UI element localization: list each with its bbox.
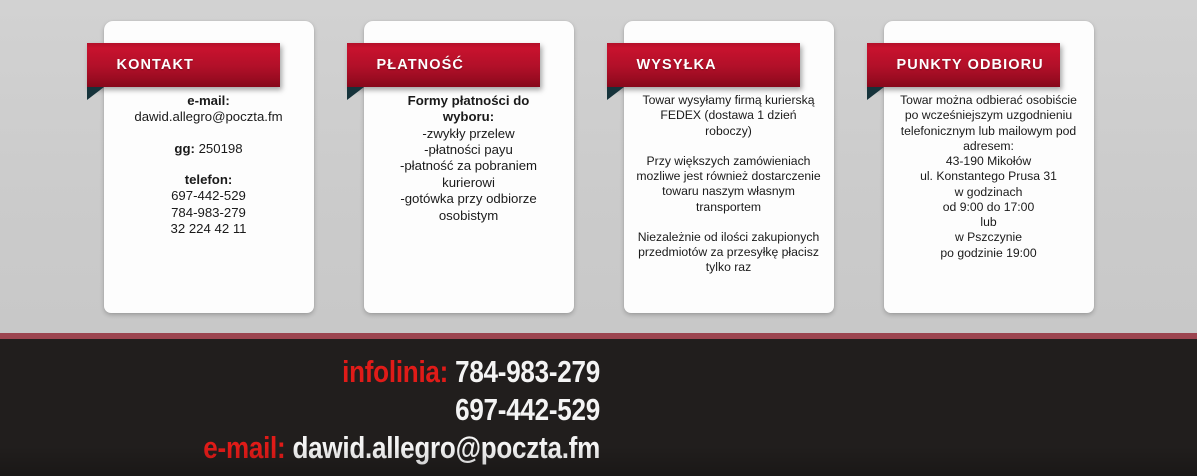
ribbon-banner: WYSYŁKA xyxy=(607,43,800,87)
ribbon-banner: KONTAKT xyxy=(87,43,280,87)
card-text-line: Towar można odbierać osobiście xyxy=(892,93,1086,108)
card-title: WYSYŁKA xyxy=(637,58,717,73)
footer-contact-line: e-mail: dawid.allegro@poczta.fm xyxy=(96,429,600,467)
card-text-line: telefonicznym lub mailowym pod xyxy=(892,124,1086,139)
card-text-line: adresem: xyxy=(892,139,1086,154)
card-text-line: FEDEX (dostawa 1 dzień xyxy=(632,108,826,123)
card-header-ribbon: WYSYŁKA xyxy=(607,43,800,87)
footer-contact-value[interactable]: 697-442-529 xyxy=(455,392,600,427)
card-text-line: -płatności payu xyxy=(372,142,566,158)
ribbon-fold-corner xyxy=(867,87,884,100)
card-text-line: towaru naszym własnym xyxy=(632,184,826,199)
card-body: Towar można odbierać osobiściepo wcześni… xyxy=(884,93,1094,261)
ribbon-banner: PUNKTY ODBIORU xyxy=(867,43,1060,87)
card-text-line: osobistym xyxy=(372,208,566,224)
card-text-line: dawid.allegro@poczta.fm xyxy=(112,109,306,125)
card-header-ribbon: PUNKTY ODBIORU xyxy=(867,43,1060,87)
card-text-line: lub xyxy=(892,215,1086,230)
card-title: PUNKTY ODBIORU xyxy=(897,58,1044,73)
main-content-area: KONTAKTe-mail:dawid.allegro@poczta.fmgg:… xyxy=(0,0,1197,333)
card-title: PŁATNOŚĆ xyxy=(377,58,464,73)
card-text-line: kurierowi xyxy=(372,175,566,191)
info-card: WYSYŁKATowar wysyłamy firmą kurierskąFED… xyxy=(624,21,834,313)
ribbon-fold-corner xyxy=(87,87,104,100)
card-text-line: transportem xyxy=(632,200,826,215)
card-text-line: w Pszczynie xyxy=(892,230,1086,245)
info-card: KONTAKTe-mail:dawid.allegro@poczta.fmgg:… xyxy=(104,21,314,313)
card-text-line: -gotówka przy odbiorze xyxy=(372,191,566,207)
card-text-line: gg: 250198 xyxy=(112,141,306,157)
card-header-ribbon: PŁATNOŚĆ xyxy=(347,43,540,87)
card-text-line: -płatność za pobraniem xyxy=(372,158,566,174)
ribbon-fold-corner xyxy=(347,87,364,100)
card-text-line: tylko raz xyxy=(632,260,826,275)
footer-contact-block: infolinia: 784-983-279 697-442-529e-mail… xyxy=(0,353,600,466)
footer-contact-value[interactable]: dawid.allegro@poczta.fm xyxy=(292,430,600,465)
footer-contact-line: infolinia: 784-983-279 xyxy=(96,353,600,391)
card-text-line: przedmiotów za przesyłkę płacisz xyxy=(632,245,826,260)
footer-contact-label: e-mail: xyxy=(203,430,285,465)
ribbon-fold-corner xyxy=(607,87,624,100)
card-text-line: mozliwe jest również dostarczenie xyxy=(632,169,826,184)
card-text-line: telefon: xyxy=(112,172,306,188)
card-text-line: -zwykły przelew xyxy=(372,126,566,142)
card-text-line: po godzinie 19:00 xyxy=(892,246,1086,261)
card-text-line: roboczy) xyxy=(632,124,826,139)
card-body: e-mail:dawid.allegro@poczta.fmgg: 250198… xyxy=(104,93,314,238)
card-text-line: 32 224 42 11 xyxy=(112,221,306,237)
card-title: KONTAKT xyxy=(117,58,195,73)
card-line-value: 250198 xyxy=(195,141,243,156)
card-text-line: 784-983-279 xyxy=(112,205,306,221)
card-text-line: e-mail: xyxy=(112,93,306,109)
card-text-line: ul. Konstantego Prusa 31 xyxy=(892,169,1086,184)
card-text-line: 697-442-529 xyxy=(112,188,306,204)
ribbon-banner: PŁATNOŚĆ xyxy=(347,43,540,87)
footer-contact-line: 697-442-529 xyxy=(96,391,600,429)
card-text-line: Formy płatności do xyxy=(372,93,566,109)
page-footer: infolinia: 784-983-279 697-442-529e-mail… xyxy=(0,339,1197,476)
info-card: PŁATNOŚĆFormy płatności dowyboru:-zwykły… xyxy=(364,21,574,313)
card-header-ribbon: KONTAKT xyxy=(87,43,280,87)
info-card: PUNKTY ODBIORUTowar można odbierać osobi… xyxy=(884,21,1094,313)
info-cards-row: KONTAKTe-mail:dawid.allegro@poczta.fmgg:… xyxy=(0,0,1197,333)
card-text-line: Niezależnie od ilości zakupionych xyxy=(632,230,826,245)
footer-contact-value[interactable]: 784-983-279 xyxy=(455,354,600,389)
card-body: Formy płatności dowyboru:-zwykły przelew… xyxy=(364,93,574,224)
card-line-key: gg: xyxy=(174,141,195,156)
card-text-line: Towar wysyłamy firmą kurierską xyxy=(632,93,826,108)
card-body: Towar wysyłamy firmą kurierskąFEDEX (dos… xyxy=(624,93,834,276)
card-text-line: Przy większych zamówieniach xyxy=(632,154,826,169)
card-text-line: po wcześniejszym uzgodnieniu xyxy=(892,108,1086,123)
card-text-line: w godzinach xyxy=(892,185,1086,200)
card-text-line: wyboru: xyxy=(372,109,566,125)
footer-contact-label: infolinia: xyxy=(342,354,448,389)
card-text-line: 43-190 Mikołów xyxy=(892,154,1086,169)
card-text-line: od 9:00 do 17:00 xyxy=(892,200,1086,215)
